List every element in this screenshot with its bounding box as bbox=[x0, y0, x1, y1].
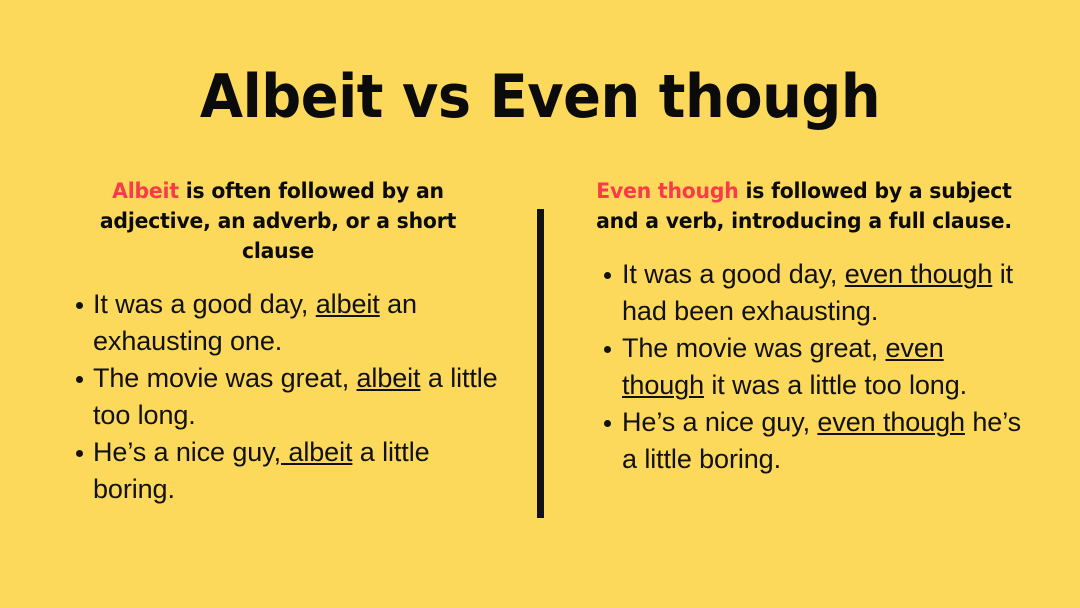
bullet-dot-icon bbox=[604, 346, 611, 353]
column-header-even-though: Even though is followed by a subject and… bbox=[585, 176, 1023, 236]
bullet-dot-icon bbox=[76, 450, 83, 457]
bullet-list-even-though: It was a good day, even though it had be… bbox=[578, 256, 1030, 478]
list-item: The movie was great, even though it was … bbox=[578, 330, 1030, 404]
bullet-dot-icon bbox=[76, 302, 83, 309]
bullet-dot-icon bbox=[76, 376, 83, 383]
column-divider bbox=[537, 209, 544, 518]
bullet-dot-icon bbox=[604, 272, 611, 279]
list-item: He’s a nice guy, even though he’s a litt… bbox=[578, 404, 1030, 478]
bullet-text-underlined: albeit bbox=[281, 437, 352, 467]
keyword-albeit: Albeit bbox=[112, 179, 179, 203]
bullet-text-before: He’s a nice guy, bbox=[622, 407, 817, 437]
list-item: He’s a nice guy, albeit a little boring. bbox=[54, 434, 502, 508]
keyword-even-though: Even though bbox=[596, 179, 738, 203]
bullet-text-underlined: even though bbox=[817, 407, 965, 437]
bullet-text-after: it was a little too long. bbox=[704, 370, 967, 400]
page-title: Albeit vs Even though bbox=[38, 62, 1042, 132]
list-item: It was a good day, even though it had be… bbox=[578, 256, 1030, 330]
bullet-text-before: It was a good day, bbox=[93, 289, 316, 319]
bullet-text-underlined: albeit bbox=[316, 289, 380, 319]
slide-canvas: Albeit vs Even though Albeit is often fo… bbox=[0, 0, 1080, 608]
bullet-text-underlined: albeit bbox=[357, 363, 421, 393]
column-even-though: Even though is followed by a subject and… bbox=[578, 176, 1030, 478]
list-item: The movie was great, albeit a little too… bbox=[54, 360, 502, 434]
bullet-text-before: The movie was great, bbox=[622, 333, 886, 363]
column-header-albeit: Albeit is often followed by an adjective… bbox=[61, 176, 496, 266]
bullet-dot-icon bbox=[604, 420, 611, 427]
bullet-text-underlined: even though bbox=[845, 259, 993, 289]
bullet-text-before: The movie was great, bbox=[93, 363, 357, 393]
list-item: It was a good day, albeit an exhausting … bbox=[54, 286, 502, 360]
bullet-text-before: He’s a nice guy, bbox=[93, 437, 281, 467]
bullet-list-albeit: It was a good day, albeit an exhausting … bbox=[54, 286, 502, 508]
column-albeit: Albeit is often followed by an adjective… bbox=[54, 176, 502, 508]
bullet-text-before: It was a good day, bbox=[622, 259, 845, 289]
